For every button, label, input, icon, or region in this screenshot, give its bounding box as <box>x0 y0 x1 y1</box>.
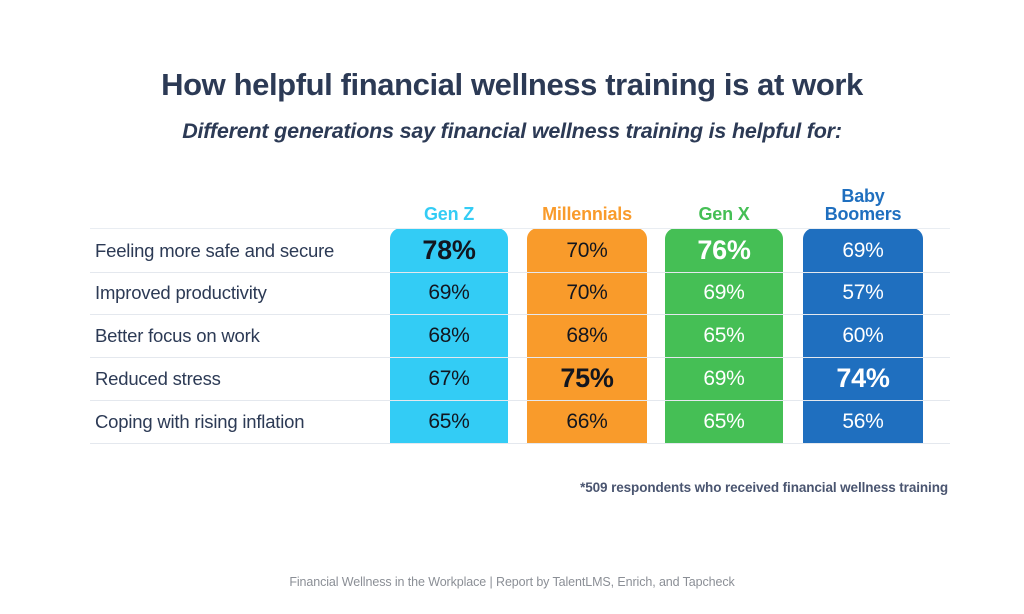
cell-gen-x-feeling-more-safe-and-secure: 76% <box>665 229 783 272</box>
cell-gen-z-improved-productivity: 69% <box>390 271 508 314</box>
cell-gen-z-feeling-more-safe-and-secure: 78% <box>390 229 508 272</box>
cell-baby-boomers-better-focus-on-work: 60% <box>803 314 923 357</box>
row-label-feeling-more-safe-and-secure: Feeling more safe and secure <box>95 229 334 272</box>
cell-gen-z-coping-with-rising-inflation: 65% <box>390 400 508 443</box>
table-row: Improved productivity69%70%69%57% <box>90 271 950 315</box>
cell-millennials-improved-productivity: 70% <box>527 271 647 314</box>
page-title: How helpful financial wellness training … <box>0 66 1024 103</box>
column-header-gen-z: Gen Z <box>390 205 508 224</box>
infographic-page: How helpful financial wellness training … <box>0 0 1024 614</box>
column-header-baby-boomers: BabyBoomers <box>803 187 923 224</box>
cell-gen-x-reduced-stress: 69% <box>665 357 783 400</box>
table-row: Better focus on work68%68%65%60% <box>90 314 950 358</box>
page-subtitle: Different generations say financial well… <box>0 119 1024 144</box>
cell-baby-boomers-feeling-more-safe-and-secure: 69% <box>803 229 923 272</box>
column-header-gen-x: Gen X <box>665 205 783 224</box>
cell-gen-z-reduced-stress: 67% <box>390 357 508 400</box>
cell-millennials-coping-with-rising-inflation: 66% <box>527 400 647 443</box>
table-row: Reduced stress67%75%69%74% <box>90 357 950 401</box>
generation-comparison-chart: Gen ZMillennialsGen XBabyBoomers Feeling… <box>90 178 950 468</box>
cell-millennials-better-focus-on-work: 68% <box>527 314 647 357</box>
cell-baby-boomers-improved-productivity: 57% <box>803 271 923 314</box>
column-headers: Gen ZMillennialsGen XBabyBoomers <box>90 178 950 228</box>
row-label-reduced-stress: Reduced stress <box>95 357 221 400</box>
cell-millennials-feeling-more-safe-and-secure: 70% <box>527 229 647 272</box>
table-row: Feeling more safe and secure78%70%76%69% <box>90 228 950 273</box>
column-header-millennials: Millennials <box>527 205 647 224</box>
row-label-better-focus-on-work: Better focus on work <box>95 314 260 357</box>
table-row: Coping with rising inflation65%66%65%56% <box>90 400 950 444</box>
cell-gen-x-improved-productivity: 69% <box>665 271 783 314</box>
report-credit: Financial Wellness in the Workplace | Re… <box>0 575 1024 589</box>
row-label-coping-with-rising-inflation: Coping with rising inflation <box>95 400 304 443</box>
data-table: Feeling more safe and secure78%70%76%69%… <box>90 228 950 443</box>
cell-gen-z-better-focus-on-work: 68% <box>390 314 508 357</box>
cell-gen-x-coping-with-rising-inflation: 65% <box>665 400 783 443</box>
footnote: *509 respondents who received financial … <box>580 480 948 495</box>
cell-millennials-reduced-stress: 75% <box>527 357 647 400</box>
cell-gen-x-better-focus-on-work: 65% <box>665 314 783 357</box>
cell-baby-boomers-coping-with-rising-inflation: 56% <box>803 400 923 443</box>
row-label-improved-productivity: Improved productivity <box>95 271 267 314</box>
cell-baby-boomers-reduced-stress: 74% <box>803 357 923 400</box>
